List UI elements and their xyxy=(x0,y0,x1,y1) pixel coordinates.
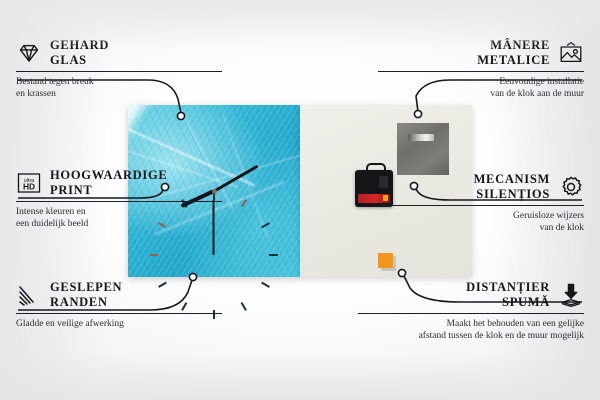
feature-divider xyxy=(378,205,584,206)
feature-subtitle-line1: Bestand tegen breuk xyxy=(16,76,222,88)
feature-divider xyxy=(378,71,584,72)
feature-title-line2: PRINT xyxy=(50,183,167,198)
feature-mecanism-silentios: MECANISM SILENȚIOS Geruisloze wijzers va… xyxy=(378,172,584,234)
feature-title-line1: MÂNERE xyxy=(477,38,550,53)
metal-hanger-plate xyxy=(397,123,449,175)
infographic-canvas: GEHARD GLAS Bestand tegen breuk en krass… xyxy=(0,0,600,400)
feature-title-line2: RANDEN xyxy=(50,295,122,310)
feature-distantier-spuma: DISTANȚIER SPUMĂ Maakt het behouden van … xyxy=(358,280,584,342)
picture-hanger-icon xyxy=(558,40,584,66)
feature-subtitle-line1: Gladde en veilige afwerking xyxy=(16,318,222,330)
bevelled-edges-icon xyxy=(16,282,42,308)
feature-gehard-glas: GEHARD GLAS Bestand tegen breuk en krass… xyxy=(16,38,222,100)
feature-title-line1: GESLEPEN xyxy=(50,280,122,295)
feature-divider xyxy=(16,313,222,314)
diamond-icon xyxy=(16,40,42,66)
feature-subtitle-line1: Eenvoudige installatie xyxy=(378,76,584,88)
feature-subtitle-line1: Geruisloze wijzers xyxy=(378,210,584,222)
feature-title-line1: HOOGWAARDIGE xyxy=(50,168,167,183)
feature-title-line1: GEHARD xyxy=(50,38,109,53)
feature-divider xyxy=(16,71,222,72)
feature-geslepen-randen: GESLEPEN RANDEN Gladde en veilige afwerk… xyxy=(16,280,222,330)
feature-title-line2: GLAS xyxy=(50,53,109,68)
feature-title-line2: SPUMĂ xyxy=(466,295,550,310)
feature-manere-metalice: MÂNERE METALICE Eenvoudige installatie v… xyxy=(378,38,584,100)
foam-spacer xyxy=(378,253,393,268)
feature-subtitle-line2: en krassen xyxy=(16,88,222,100)
feature-subtitle-line1: Intense kleuren en xyxy=(16,206,222,218)
feature-subtitle-line2: afstand tussen de klok en de muur mogeli… xyxy=(358,330,584,342)
feature-subtitle-line2: van de klok aan de muur xyxy=(378,88,584,100)
feature-subtitle-line1: Maakt het behouden van een gelijke xyxy=(358,318,584,330)
feature-hoogwaardige-print: ultra HD HOOGWAARDIGE PRINT Intense kleu… xyxy=(16,168,222,230)
feature-divider xyxy=(358,313,584,314)
feature-title-line2: METALICE xyxy=(477,53,550,68)
svg-text:HD: HD xyxy=(23,181,35,191)
feature-subtitle-line2: van de klok xyxy=(378,222,584,234)
feature-title-line1: MECANISM xyxy=(474,172,550,187)
ultra-hd-icon: ultra HD xyxy=(16,170,42,196)
feature-subtitle-line2: een duidelijk beeld xyxy=(16,218,222,230)
feature-title-line2: SILENȚIOS xyxy=(474,187,550,202)
spacer-arrow-icon xyxy=(558,282,584,308)
gear-icon xyxy=(558,174,584,200)
feature-title-line1: DISTANȚIER xyxy=(466,280,550,295)
feature-divider xyxy=(16,201,222,202)
